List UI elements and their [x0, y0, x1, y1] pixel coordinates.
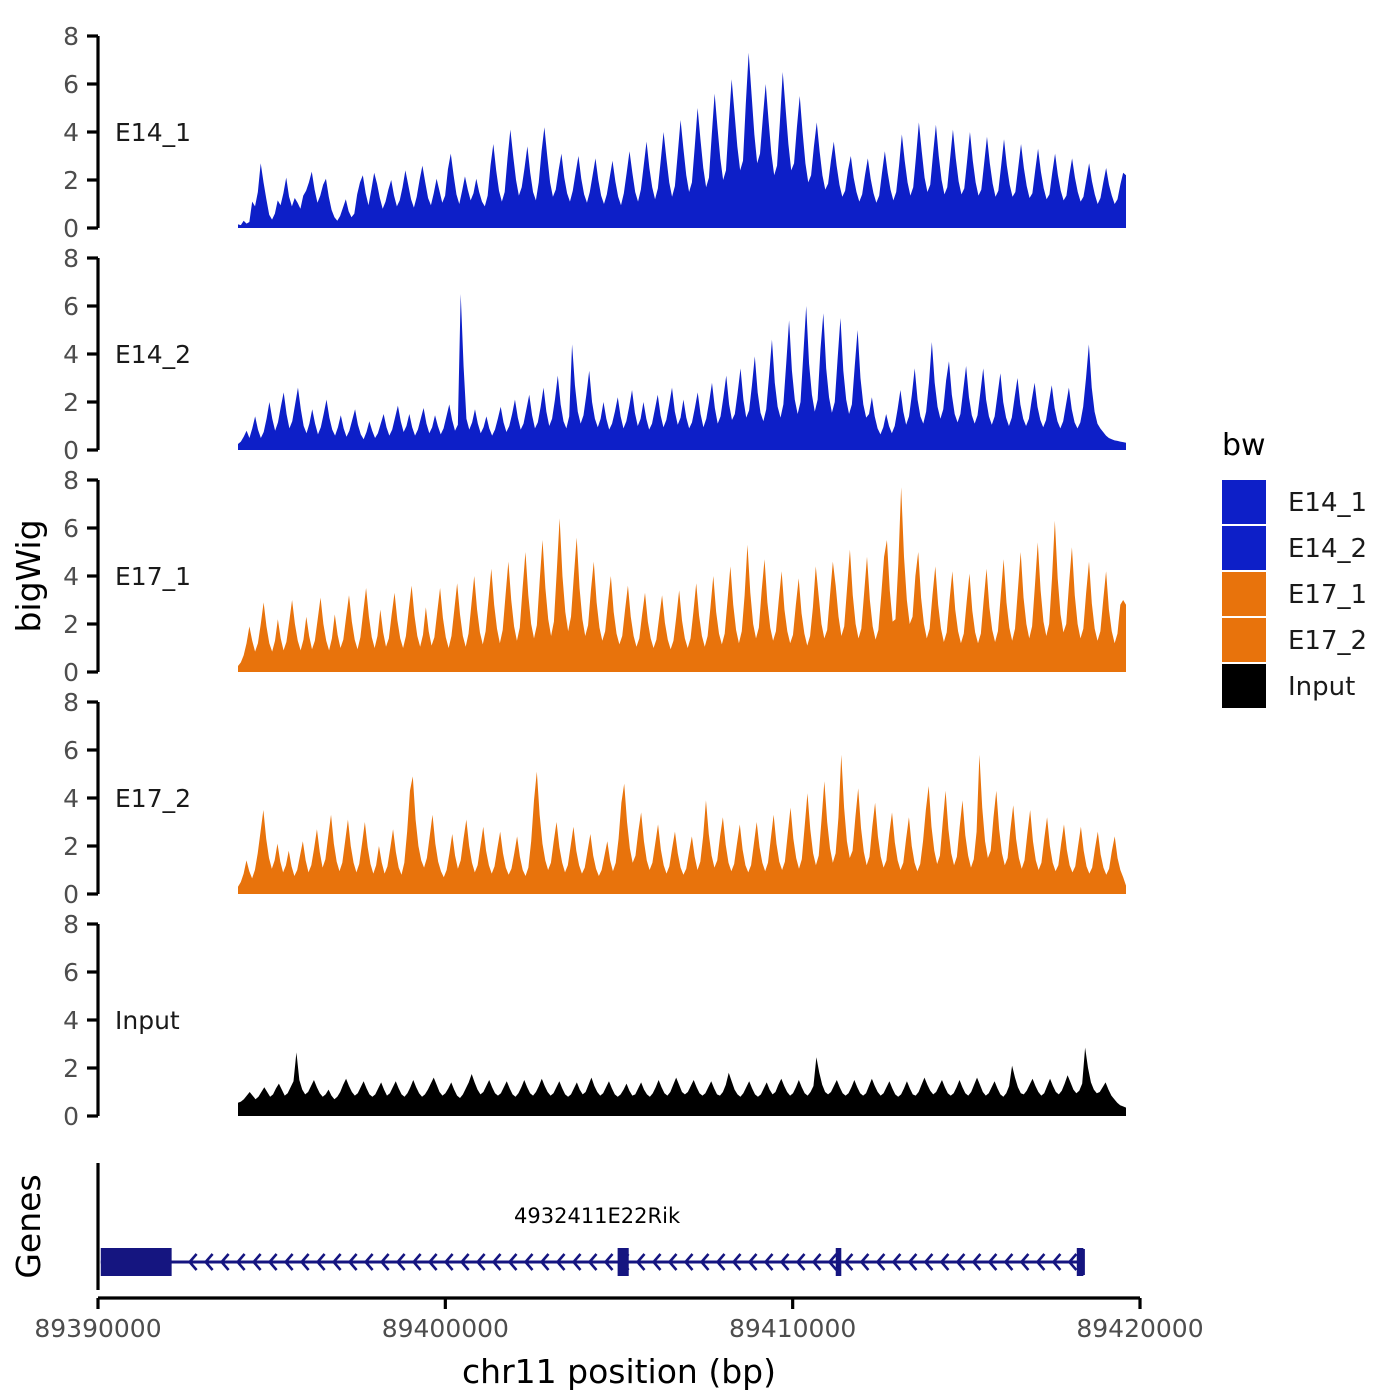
track-area-e17_2 [238, 755, 1126, 894]
y-axis-title: bigWig [9, 519, 48, 632]
track-label-e14_2: E14_2 [115, 340, 191, 369]
y-tick-label: 6 [63, 514, 79, 543]
y-tick-label: 8 [63, 244, 79, 273]
y-tick-label: 8 [63, 688, 79, 717]
gene-exon-block [618, 1248, 629, 1276]
y-tick-label: 4 [63, 118, 79, 147]
legend-swatch-e14_2[interactable] [1222, 526, 1266, 570]
legend-label-e14_2: E14_2 [1288, 534, 1367, 564]
y-tick-label: 2 [63, 166, 79, 195]
gene-exon-block [101, 1248, 172, 1276]
track-area-e14_2 [238, 294, 1126, 450]
y-tick-label: 4 [63, 340, 79, 369]
y-tick-label: 8 [63, 910, 79, 939]
y-tick-label: 0 [63, 880, 79, 909]
y-tick-label: 6 [63, 736, 79, 765]
legend-label-e17_1: E17_1 [1288, 580, 1367, 610]
track-panel-e14_1: 02468E14_1 [63, 22, 1126, 243]
track-area-input [238, 1048, 1126, 1116]
gene-exon-block [836, 1248, 842, 1276]
legend-swatch-e14_1[interactable] [1222, 480, 1266, 524]
track-panel-e17_1: 02468E17_1 [63, 466, 1126, 687]
track-area-e14_1 [238, 53, 1126, 228]
genes-axis-title: Genes [9, 1174, 48, 1278]
y-tick-label: 0 [63, 658, 79, 687]
gene-name-label: 4932411E22Rik [514, 1204, 681, 1228]
y-tick-label: 4 [63, 1006, 79, 1035]
legend-label-e14_1: E14_1 [1288, 488, 1367, 518]
genes-panel: Genes4932411E22Rik [9, 1163, 1083, 1290]
x-tick-label: 89420000 [1076, 1314, 1203, 1343]
track-panel-e17_2: 02468E17_2 [63, 688, 1126, 909]
x-tick-label: 89400000 [382, 1314, 509, 1343]
y-tick-label: 6 [63, 70, 79, 99]
track-panel-e14_2: 02468E14_2 [63, 244, 1126, 465]
x-tick-label: 89410000 [729, 1314, 856, 1343]
y-tick-label: 4 [63, 562, 79, 591]
x-tick-label: 89390000 [34, 1314, 161, 1343]
y-tick-label: 2 [63, 832, 79, 861]
y-tick-label: 6 [63, 292, 79, 321]
track-area-e17_1 [238, 487, 1126, 672]
legend-label-e17_2: E17_2 [1288, 626, 1367, 656]
y-tick-label: 0 [63, 214, 79, 243]
y-tick-label: 4 [63, 784, 79, 813]
y-tick-label: 2 [63, 610, 79, 639]
genome-browser-figure: 02468E14_102468E14_202468E17_102468E17_2… [0, 0, 1400, 1400]
y-tick-label: 6 [63, 958, 79, 987]
track-panel-input: 02468Input [63, 910, 1126, 1131]
y-tick-label: 2 [63, 388, 79, 417]
legend: bwE14_1E14_2E17_1E17_2Input [1222, 428, 1367, 708]
y-tick-label: 2 [63, 1054, 79, 1083]
x-axis: 89390000894000008941000089420000chr11 po… [34, 1298, 1203, 1391]
y-tick-label: 8 [63, 466, 79, 495]
y-tick-label: 0 [63, 436, 79, 465]
legend-label-input: Input [1288, 672, 1355, 702]
y-tick-label: 0 [63, 1102, 79, 1131]
y-tick-label: 8 [63, 22, 79, 51]
legend-swatch-e17_1[interactable] [1222, 572, 1266, 616]
track-label-e17_1: E17_1 [115, 562, 191, 591]
legend-swatch-e17_2[interactable] [1222, 618, 1266, 662]
legend-swatch-input[interactable] [1222, 664, 1266, 708]
track-label-e17_2: E17_2 [115, 784, 191, 813]
genome-track-plot: 02468E14_102468E14_202468E17_102468E17_2… [0, 0, 1400, 1400]
x-axis-title: chr11 position (bp) [462, 1352, 776, 1391]
track-label-input: Input [115, 1006, 180, 1035]
legend-title: bw [1222, 428, 1266, 463]
track-label-e14_1: E14_1 [115, 118, 191, 147]
